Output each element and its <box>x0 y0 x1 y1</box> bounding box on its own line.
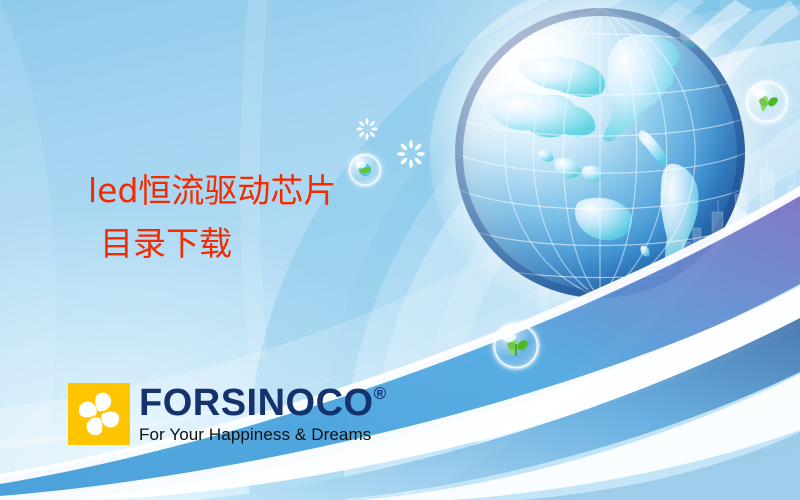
logo-wordmark-text: FORSINOCO <box>139 384 374 422</box>
flower-asterisk-1 <box>356 118 378 145</box>
logo-tagline: For Your Happiness & Dreams <box>139 425 387 445</box>
forsinoco-pinwheel-mark <box>68 383 130 445</box>
headline-line-2: 目录下载 <box>88 217 418 270</box>
page-title: led恒流驱动芯片 目录下载 <box>88 164 418 271</box>
city-skyline-silhouette <box>680 150 800 300</box>
bubble-sprout-emblem-right <box>745 80 789 124</box>
bubble-sprout-emblem <box>492 322 540 370</box>
headline-line-1: led恒流驱动芯片 <box>88 171 336 210</box>
promo-banner: led恒流驱动芯片 目录下载 FORSINOCO ® For Your Happ… <box>0 0 800 500</box>
registered-trademark-icon: ® <box>374 385 387 402</box>
company-logo[interactable]: FORSINOCO ® For Your Happiness & Dreams <box>68 383 387 445</box>
world-globe <box>455 8 745 298</box>
globe-halo <box>430 0 770 324</box>
logo-wordmark: FORSINOCO ® <box>139 384 387 422</box>
logo-text-block: FORSINOCO ® For Your Happiness & Dreams <box>139 384 387 445</box>
